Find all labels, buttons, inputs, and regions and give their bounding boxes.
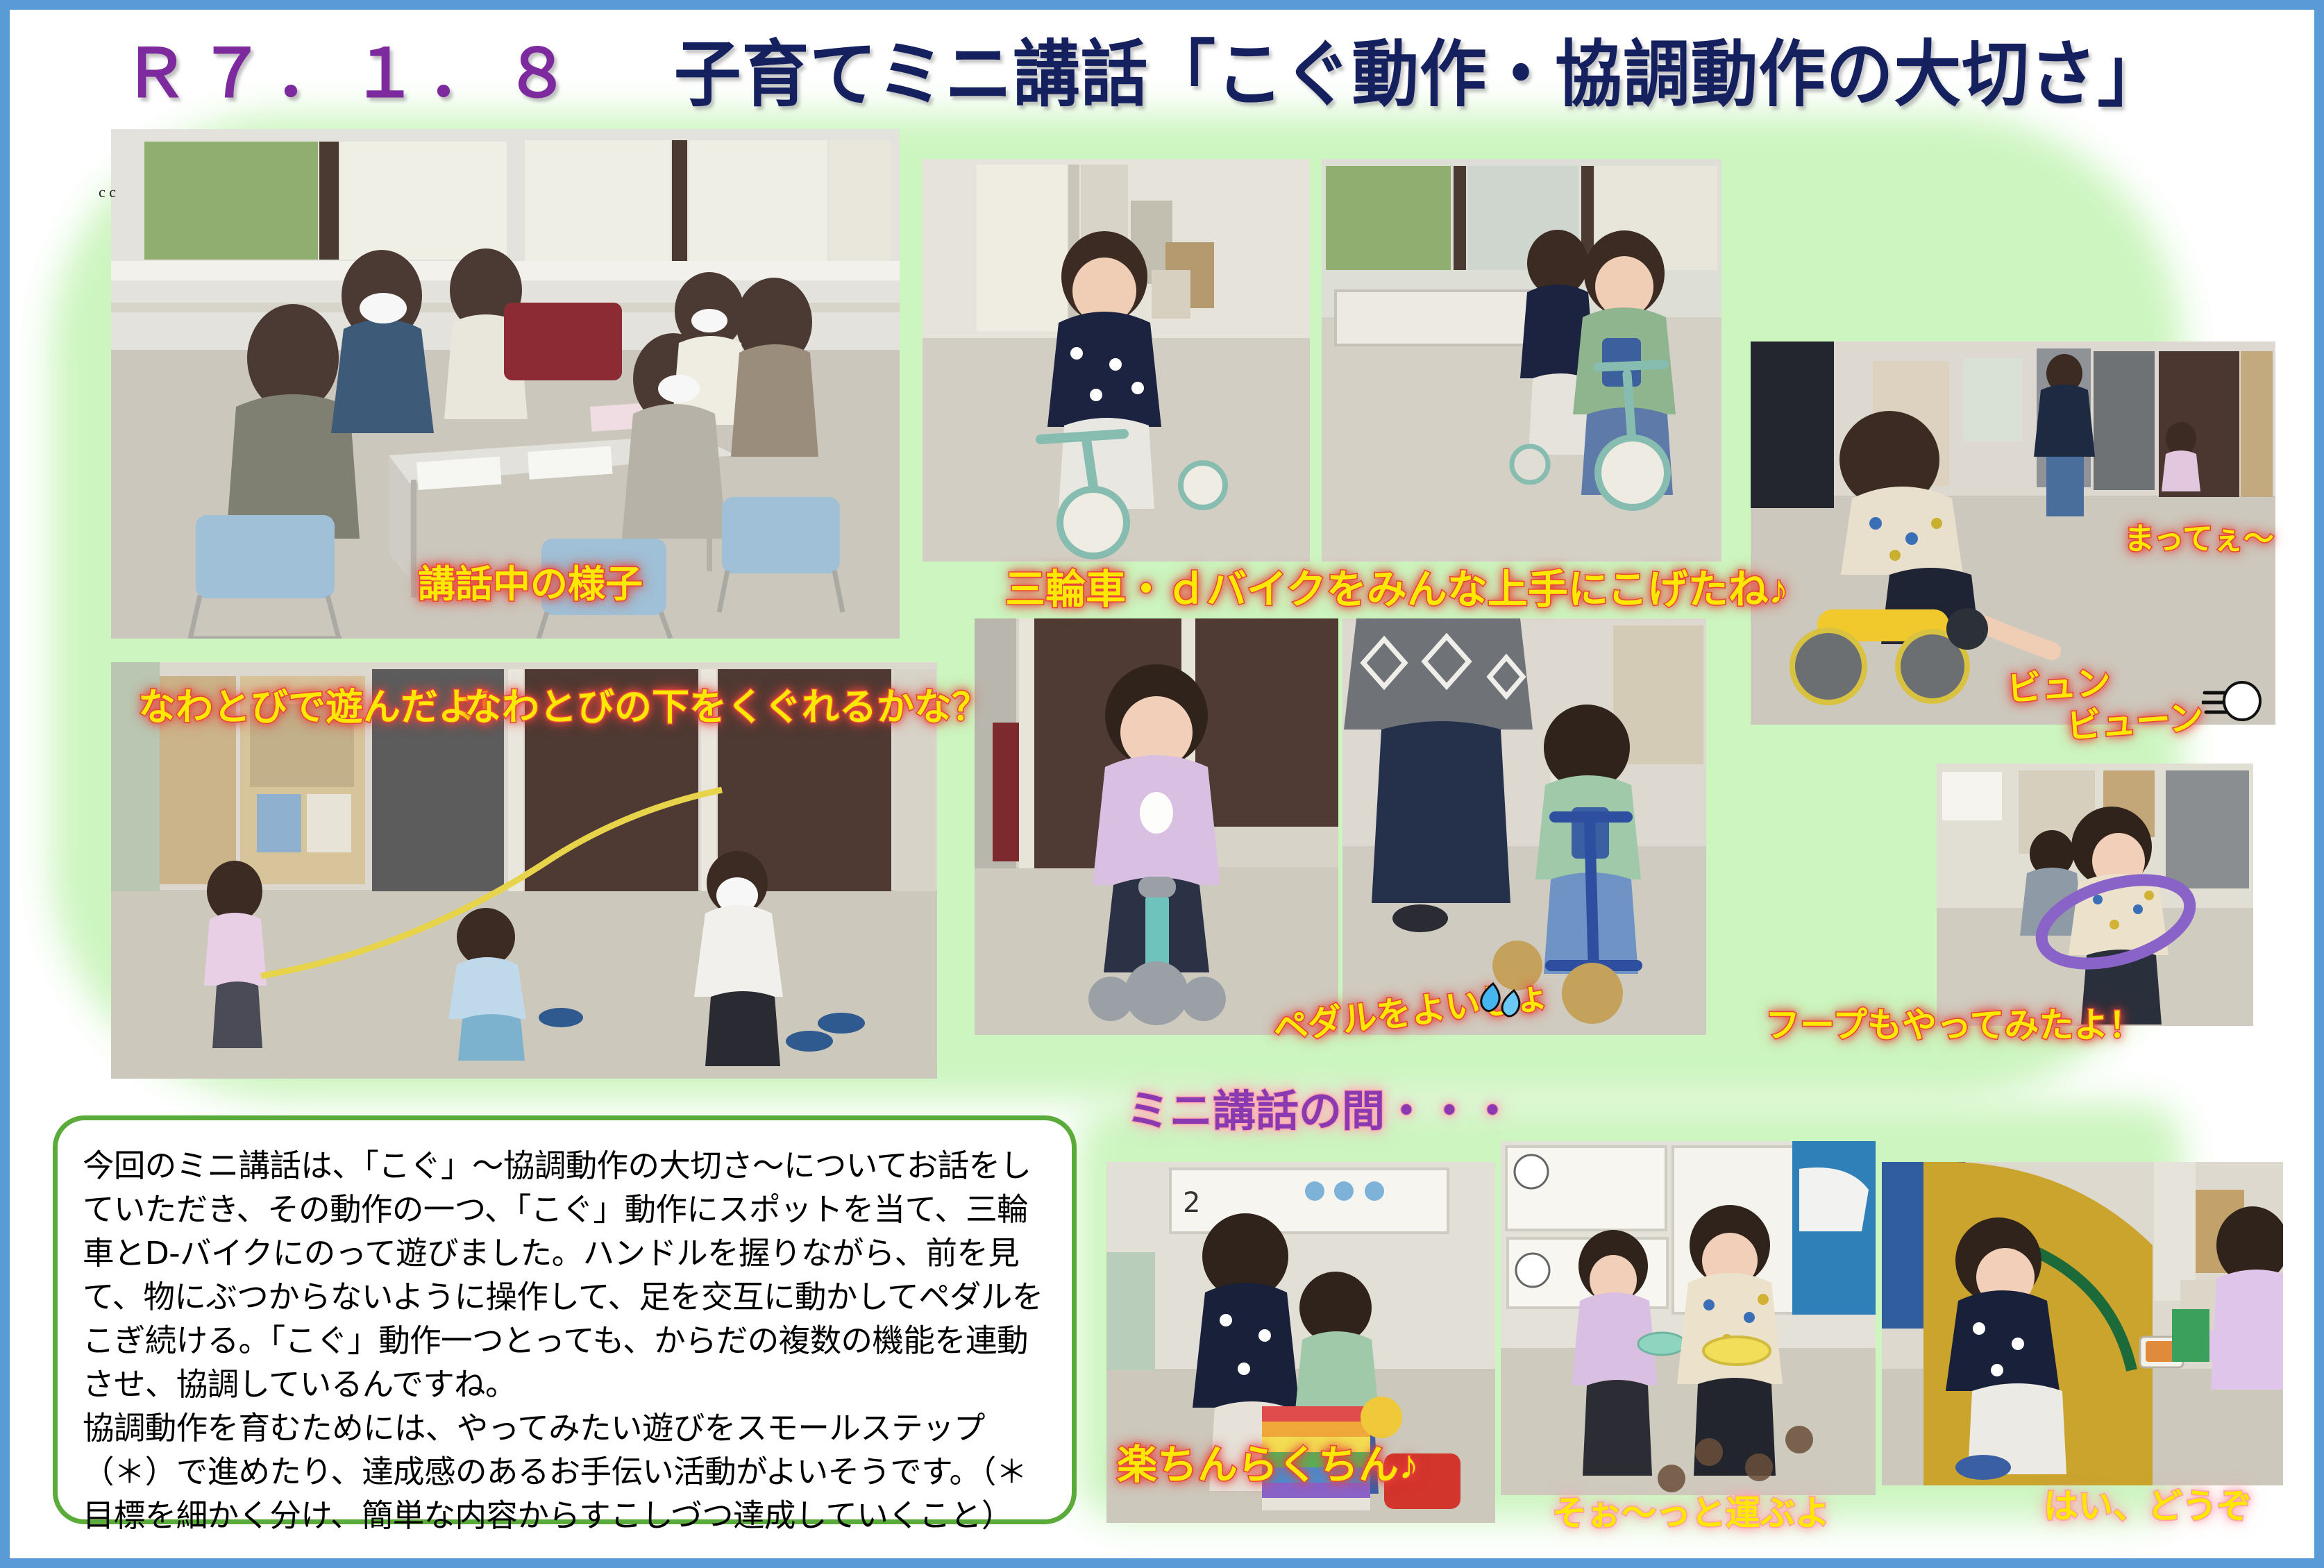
photo-lecture-room-group	[111, 129, 900, 639]
girl-dbike-illustration	[975, 618, 1338, 1035]
svg-text:2: 2	[1183, 1187, 1200, 1219]
caption-during-lecture: ミニ講話の間・・・	[1127, 1089, 1514, 1134]
photo-boy-tricycle-helper	[1342, 618, 1706, 1035]
sharing-toy-illustration	[1882, 1162, 2283, 1485]
issue-date: Ｒ７．１．８	[122, 37, 580, 111]
caption-carry: そぉ～っと運ぶよ	[1552, 1495, 1830, 1532]
page-title: Ｒ７．１．８子育てミニ講話「こぐ動作・協調動作の大切さ」	[10, 15, 2324, 120]
summary-textbox: 今回のミニ講話は、「こぐ」～協調動作の大切さ～についてお話をしていただき、その動…	[53, 1115, 1077, 1524]
carrying-plates-illustration	[1501, 1141, 1876, 1495]
caption-wait: まってぇ～	[2124, 523, 2274, 555]
hula-hoop-illustration	[1937, 764, 2253, 1026]
caption-jumprope-2: なわとびの下をくぐれるかな？	[464, 688, 989, 727]
photo-girl-on-dbike	[975, 618, 1338, 1035]
caption-jumprope-1: なわとびで遊んだよ！	[138, 688, 513, 727]
stray-mark: c c	[99, 183, 116, 201]
sweat-drop-icon	[1476, 978, 1529, 1025]
lecture-room-illustration	[111, 129, 900, 639]
caption-tricycle: 三輪車・ｄバイクをみんな上手にこげたね♪	[1005, 569, 1789, 612]
caption-easy: 楽ちんらくちん♪	[1117, 1444, 1419, 1487]
boy-tricycle-illustration	[1342, 618, 1706, 1035]
caption-zoom-2: ビューン	[2065, 699, 2205, 745]
speed-puff-icon	[2202, 676, 2262, 726]
boy-on-dbike-illustration	[923, 159, 1310, 562]
photo-boy-on-dbike-1	[923, 159, 1310, 562]
photo-kids-carrying-plates	[1501, 1141, 1876, 1495]
caption-here-you-go: はい、どうぞ	[2044, 1488, 2252, 1525]
title-text: 子育てミニ講話「こぐ動作・協調動作の大切さ」	[674, 15, 2165, 120]
caption-lecture: 講話中の様子	[418, 565, 643, 605]
poster-page: Ｒ７．１．８子育てミニ講話「こぐ動作・協調動作の大切さ」 c c	[0, 0, 2324, 1568]
summary-text: 今回のミニ講話は、「こぐ」～協調動作の大切さ～についてお話をしていただき、その動…	[83, 1144, 1051, 1537]
photo-boy-with-hula-hoop	[1937, 764, 2253, 1026]
caption-hoop: フープもやってみたよ！	[1765, 1007, 2144, 1044]
photo-two-boys-on-dbike	[1322, 159, 1721, 562]
photo-kids-sharing-toy	[1882, 1162, 2283, 1485]
two-boys-dbike-illustration	[1322, 159, 1721, 562]
caption-zoom-1: ビュン	[2005, 664, 2112, 708]
